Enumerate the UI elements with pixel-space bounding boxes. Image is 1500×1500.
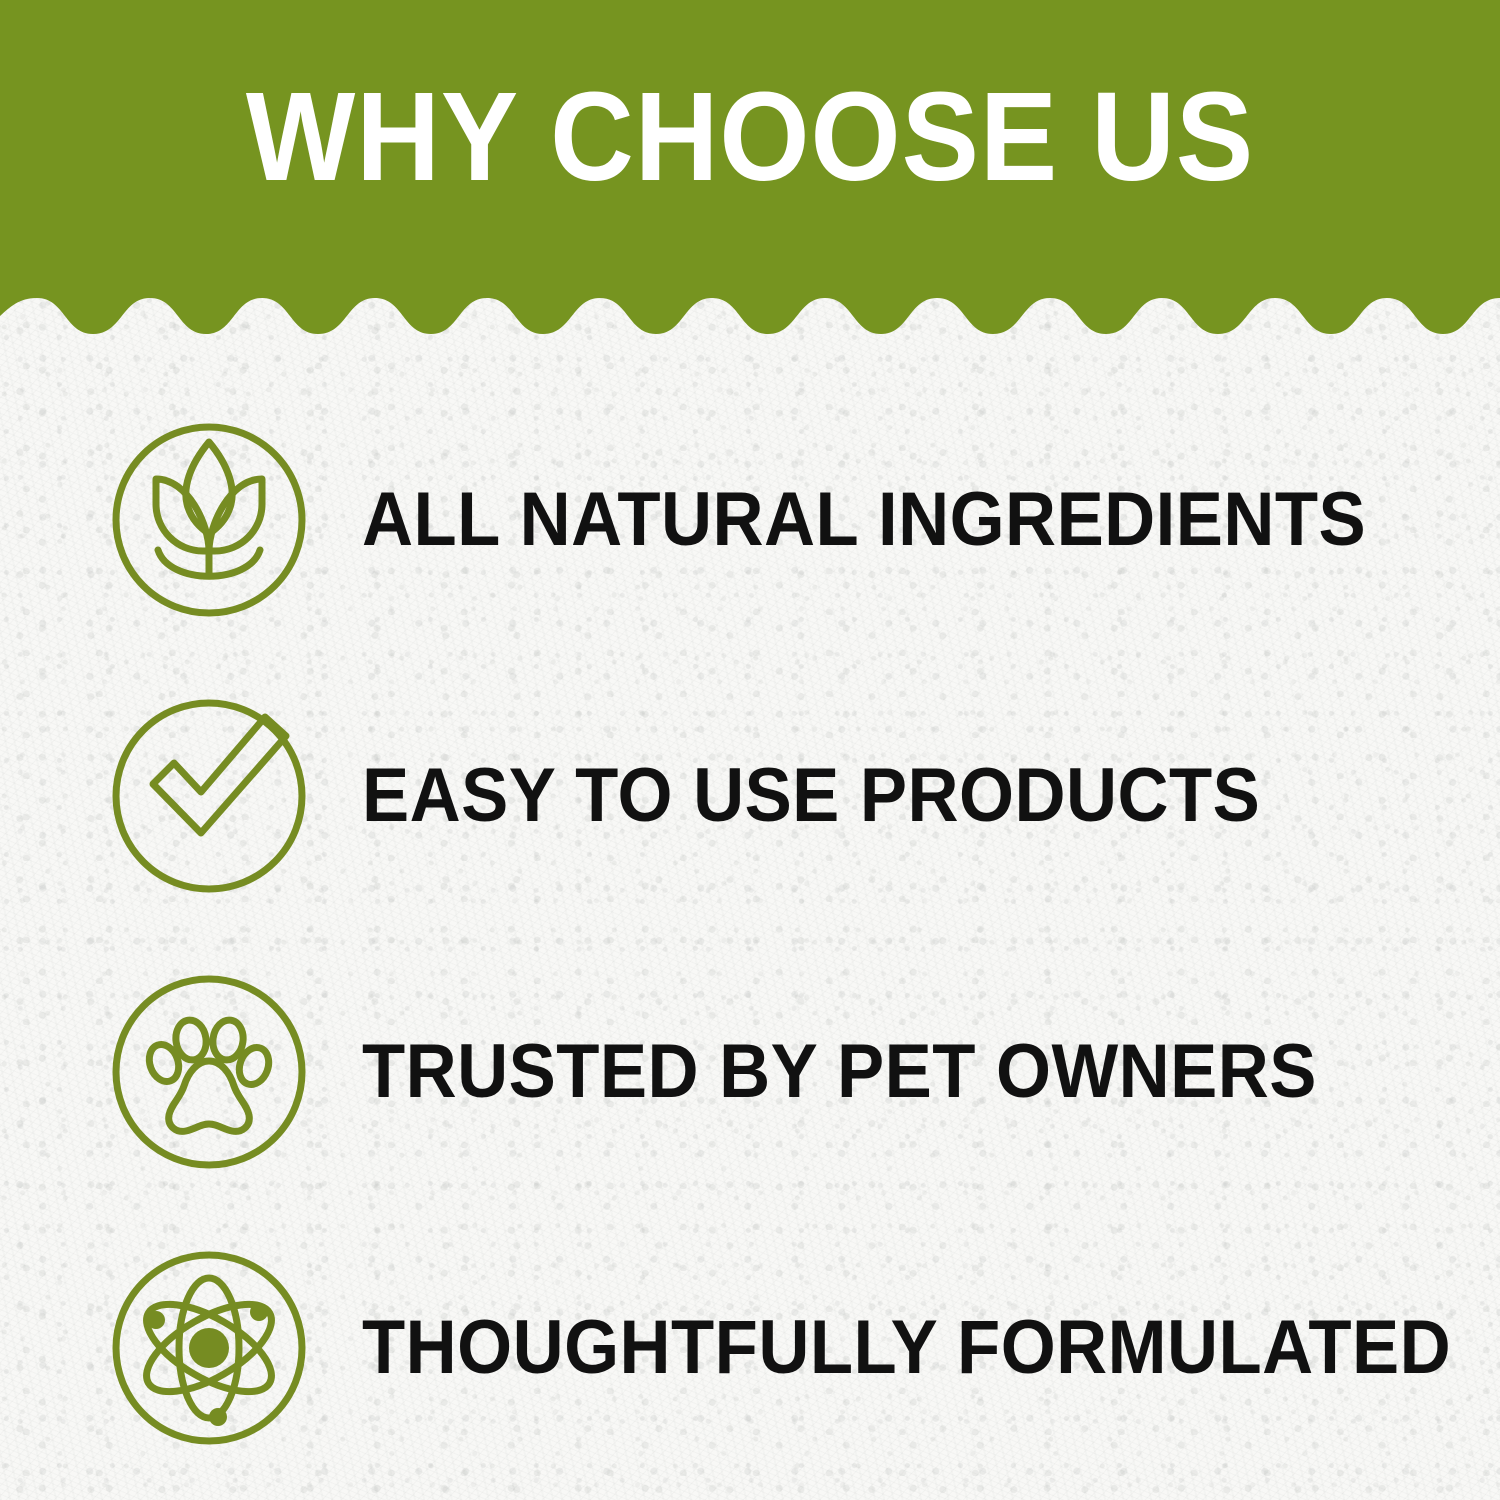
leaf-plant-icon [111, 422, 307, 618]
feature-label: THOUGHTFULLY FORMULATED [362, 1308, 1451, 1388]
feature-row: THOUGHTFULLY FORMULATED [0, 1250, 1500, 1446]
header-banner: WHY CHOOSE US [0, 0, 1500, 340]
atom-icon [111, 1250, 307, 1446]
feature-row: TRUSTED BY PET OWNERS [0, 974, 1500, 1170]
feature-row: ALL NATURAL INGREDIENTS [0, 422, 1500, 618]
why-choose-us-infographic: WHY CHOOSE US [0, 0, 1500, 1500]
feature-label: ALL NATURAL INGREDIENTS [362, 480, 1366, 560]
feature-row: EASY TO USE PRODUCTS [0, 698, 1500, 894]
paw-print-icon [111, 974, 307, 1170]
page-title: WHY CHOOSE US [60, 74, 1440, 200]
checkmark-circle-icon [111, 698, 307, 894]
feature-label: EASY TO USE PRODUCTS [362, 756, 1260, 836]
feature-label: TRUSTED BY PET OWNERS [362, 1032, 1317, 1112]
